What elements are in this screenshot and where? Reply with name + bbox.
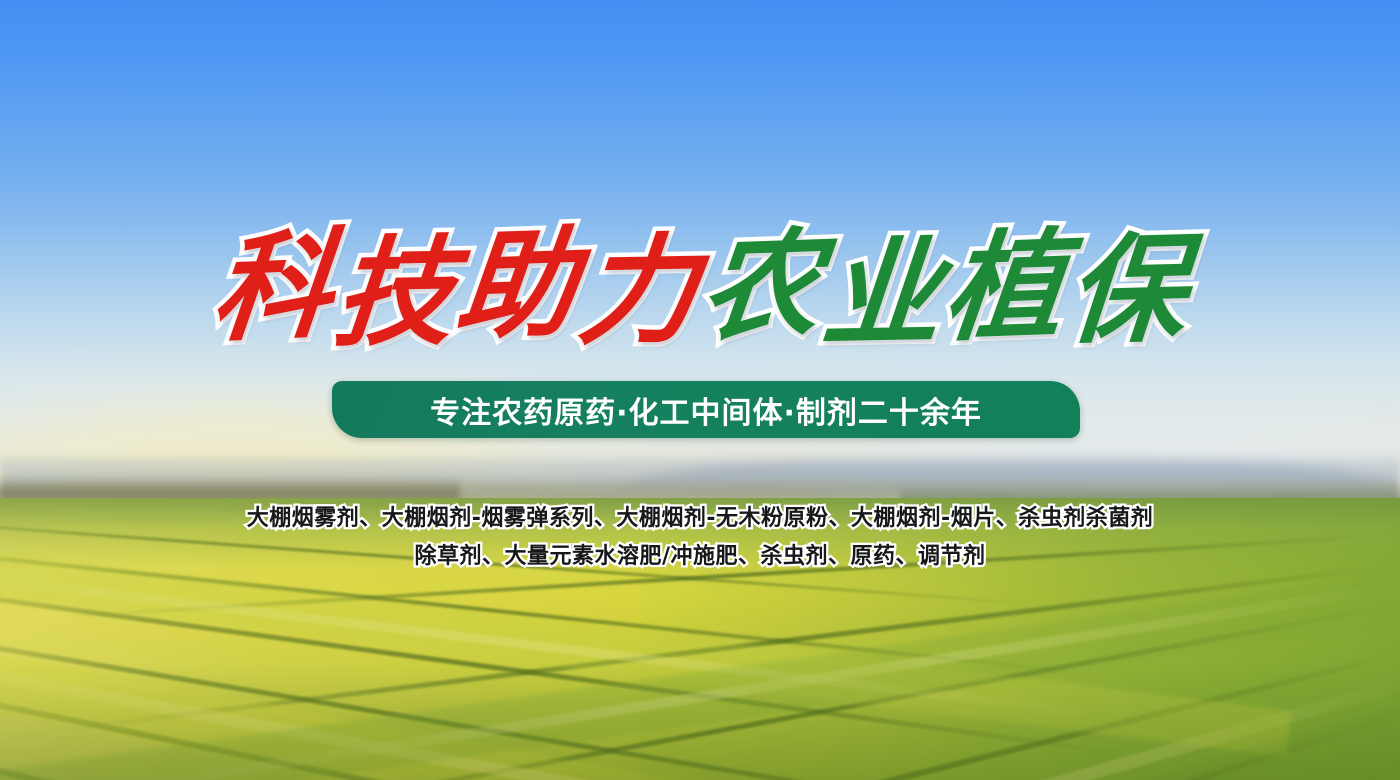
field-foreground-shade — [0, 660, 1400, 780]
farm-field — [0, 498, 1400, 780]
field-far-edge — [0, 498, 1400, 568]
subtitle-pill: 专注农药原药·化工中间体·制剂二十余年 — [332, 381, 1080, 438]
promo-banner: 科技助力农业植保 专注农药原药·化工中间体·制剂二十余年 大棚烟雾剂、大棚烟剂-… — [0, 0, 1400, 780]
subtitle-text: 专注农药原药·化工中间体·制剂二十余年 — [430, 388, 982, 432]
